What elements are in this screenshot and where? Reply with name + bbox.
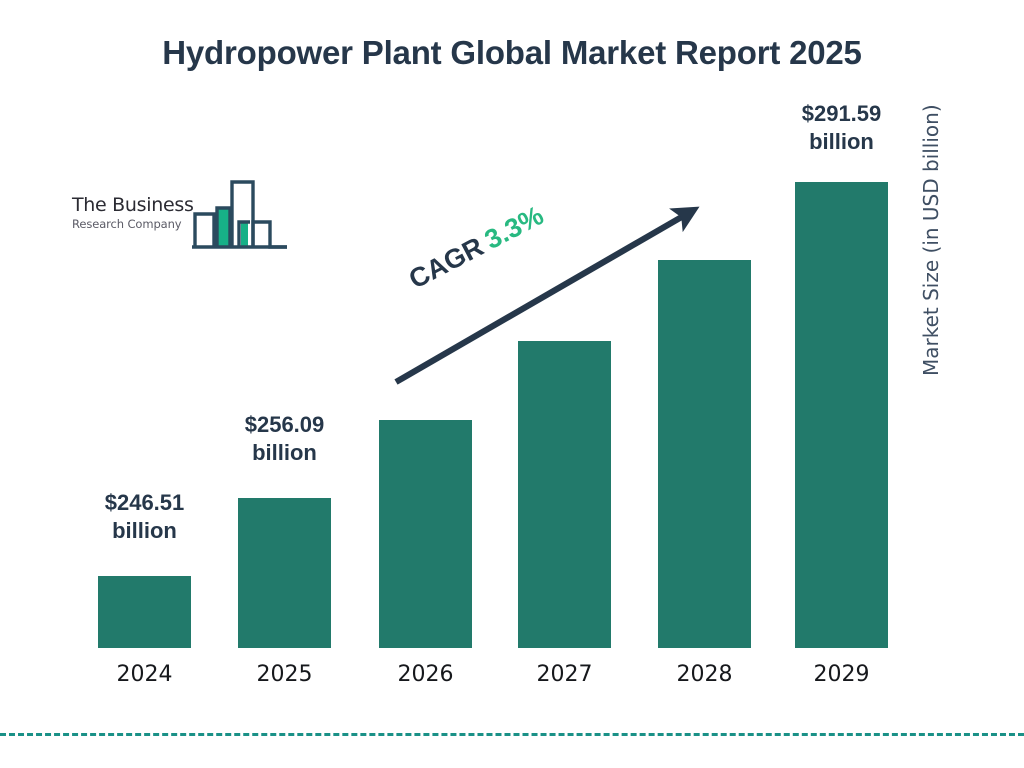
bar-2029[interactable]	[795, 182, 888, 648]
x-axis-tick-2027: 2027	[506, 662, 623, 687]
bar-chart-plot-area: $246.51billion2024$256.09billion20252026…	[0, 0, 1024, 768]
x-axis-tick-2025: 2025	[226, 662, 343, 687]
bar-value-unit-2025: billion	[230, 439, 339, 467]
y-axis-title: Market Size (in USD billion)	[908, 46, 954, 376]
x-axis-tick-2028: 2028	[646, 662, 763, 687]
bar-2026[interactable]	[379, 420, 472, 648]
bar-value-amount-2025: $256.09	[230, 411, 339, 439]
x-axis-tick-2029: 2029	[783, 662, 900, 687]
bar-2025[interactable]	[238, 498, 331, 648]
bar-value-label-2025: $256.09billion	[230, 411, 339, 467]
x-axis-tick-2026: 2026	[367, 662, 484, 687]
x-axis-tick-2024: 2024	[86, 662, 203, 687]
bar-value-unit-2029: billion	[787, 128, 896, 156]
footer-divider	[0, 733, 1024, 736]
bar-value-amount-2024: $246.51	[90, 489, 199, 517]
bar-value-amount-2029: $291.59	[787, 100, 896, 128]
bar-2028[interactable]	[658, 260, 751, 648]
bar-value-unit-2024: billion	[90, 517, 199, 545]
bar-2027[interactable]	[518, 341, 611, 648]
chart-canvas: Hydropower Plant Global Market Report 20…	[0, 0, 1024, 768]
bar-2024[interactable]	[98, 576, 191, 648]
bar-value-label-2029: $291.59billion	[787, 100, 896, 156]
bar-value-label-2024: $246.51billion	[90, 489, 199, 545]
